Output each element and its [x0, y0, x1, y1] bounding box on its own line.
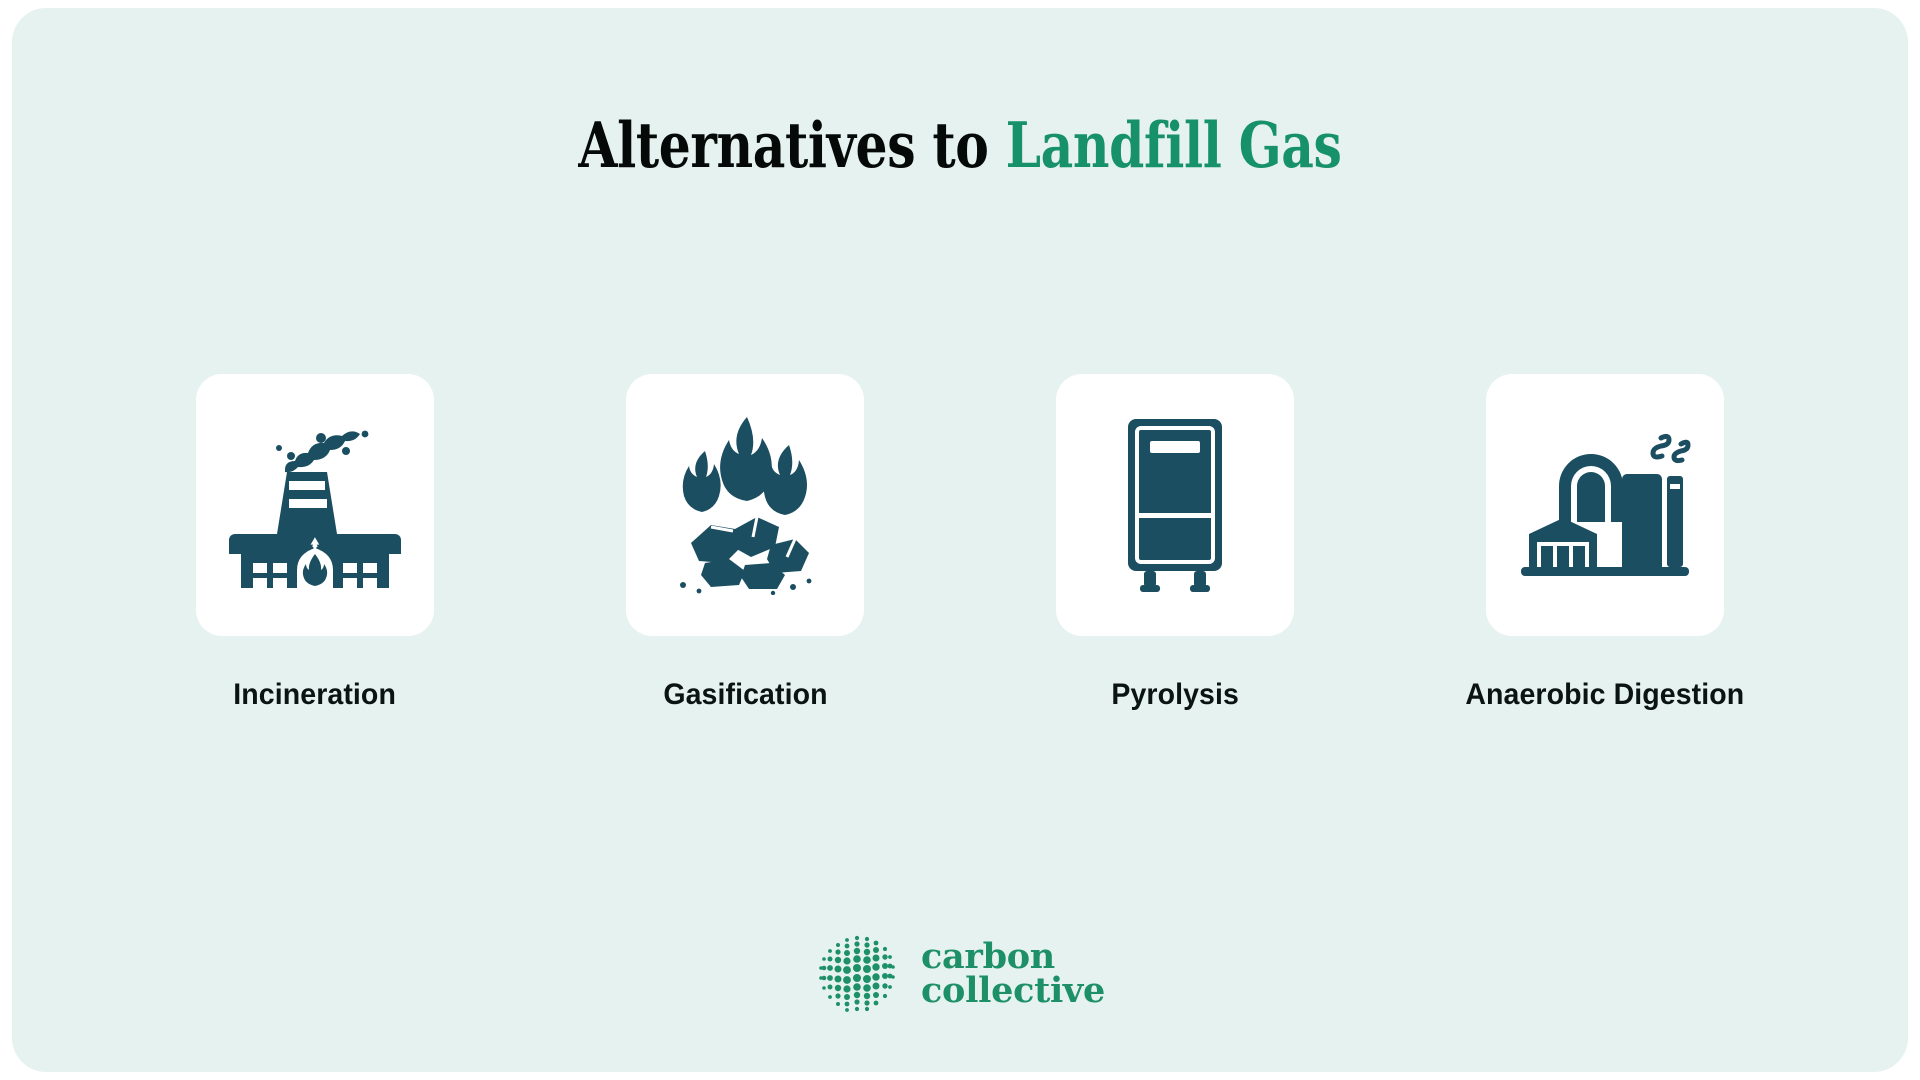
icon-card-anaerobic-digestion[interactable]: [1486, 374, 1724, 636]
infographic-panel: Alternatives to Landfill Gas: [12, 8, 1908, 1072]
logo-line-1: carbon: [921, 940, 1105, 974]
title-text: Alternatives to Landfill Gas: [578, 112, 1341, 178]
page-title: Alternatives to Landfill Gas: [12, 112, 1908, 178]
dot-sphere-icon: [815, 932, 899, 1016]
icon-card-pyrolysis[interactable]: [1056, 374, 1294, 636]
icon-card-gasification[interactable]: [626, 374, 864, 636]
list-item[interactable]: Anaerobic Digestion: [1485, 374, 1725, 712]
list-item-label: Incineration: [234, 678, 397, 712]
list-item[interactable]: Pyrolysis: [1055, 374, 1295, 712]
logo-line-2: collective: [921, 974, 1105, 1008]
biogas-plant-icon: [1515, 430, 1695, 580]
list-item[interactable]: Incineration: [195, 374, 435, 712]
list-item-label: Anaerobic Digestion: [1466, 678, 1745, 712]
pyrolysis-reactor-icon: [1110, 415, 1240, 595]
list-item-label: Pyrolysis: [1111, 678, 1239, 712]
list-item[interactable]: Gasification: [625, 374, 865, 712]
list-item-label: Gasification: [663, 678, 827, 712]
title-plain: Alternatives to: [578, 108, 1005, 182]
incineration-plant-icon: [225, 420, 405, 590]
page-root: Alternatives to Landfill Gas: [0, 0, 1920, 1080]
brand-logo[interactable]: carbon collective: [12, 932, 1908, 1016]
icon-card-incineration[interactable]: [196, 374, 434, 636]
alternatives-list: Incineration: [12, 374, 1908, 712]
logo-wordmark: carbon collective: [921, 940, 1105, 1009]
burning-coal-icon: [661, 415, 829, 595]
title-accent: Landfill Gas: [1006, 108, 1342, 182]
